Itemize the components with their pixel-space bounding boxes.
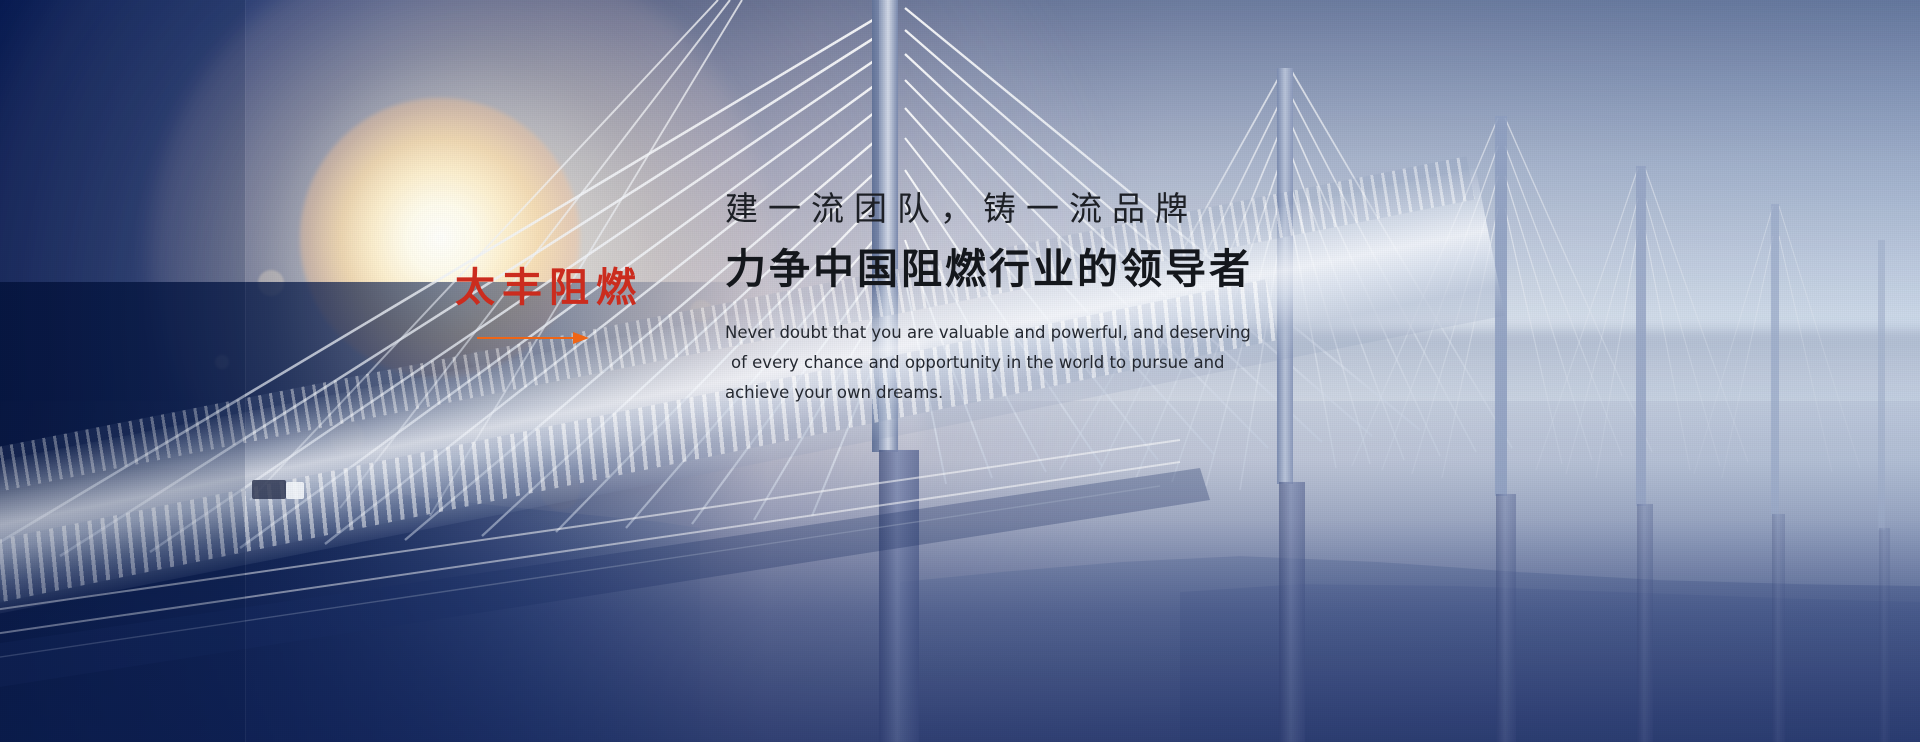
- brand-logo[interactable]: 太丰阻燃: [455, 268, 675, 344]
- subtext-line-1: Never doubt that you are valuable and po…: [725, 318, 1305, 348]
- banner-content: 太丰阻燃 建一流团队，铸一流品牌 力争中国阻燃行业的领导者 Never doub…: [0, 0, 1920, 742]
- hero-banner: 太丰阻燃 建一流团队，铸一流品牌 力争中国阻燃行业的领导者 Never doub…: [0, 0, 1920, 742]
- banner-subtext: Never doubt that you are valuable and po…: [725, 318, 1305, 408]
- arrow-head: [573, 332, 589, 344]
- subtext-line-3: achieve your own dreams.: [725, 378, 1305, 408]
- arrow-right-icon: [477, 332, 599, 344]
- subtext-line-2: of every chance and opportunity in the w…: [725, 348, 1305, 378]
- banner-tagline: 建一流团队，铸一流品牌: [725, 188, 1445, 229]
- arrow-shaft: [477, 337, 581, 339]
- banner-copy: 建一流团队，铸一流品牌 力争中国阻燃行业的领导者 Never doubt tha…: [725, 188, 1445, 408]
- banner-headline: 力争中国阻燃行业的领导者: [725, 245, 1445, 294]
- brand-wordmark: 太丰阻燃: [455, 268, 675, 308]
